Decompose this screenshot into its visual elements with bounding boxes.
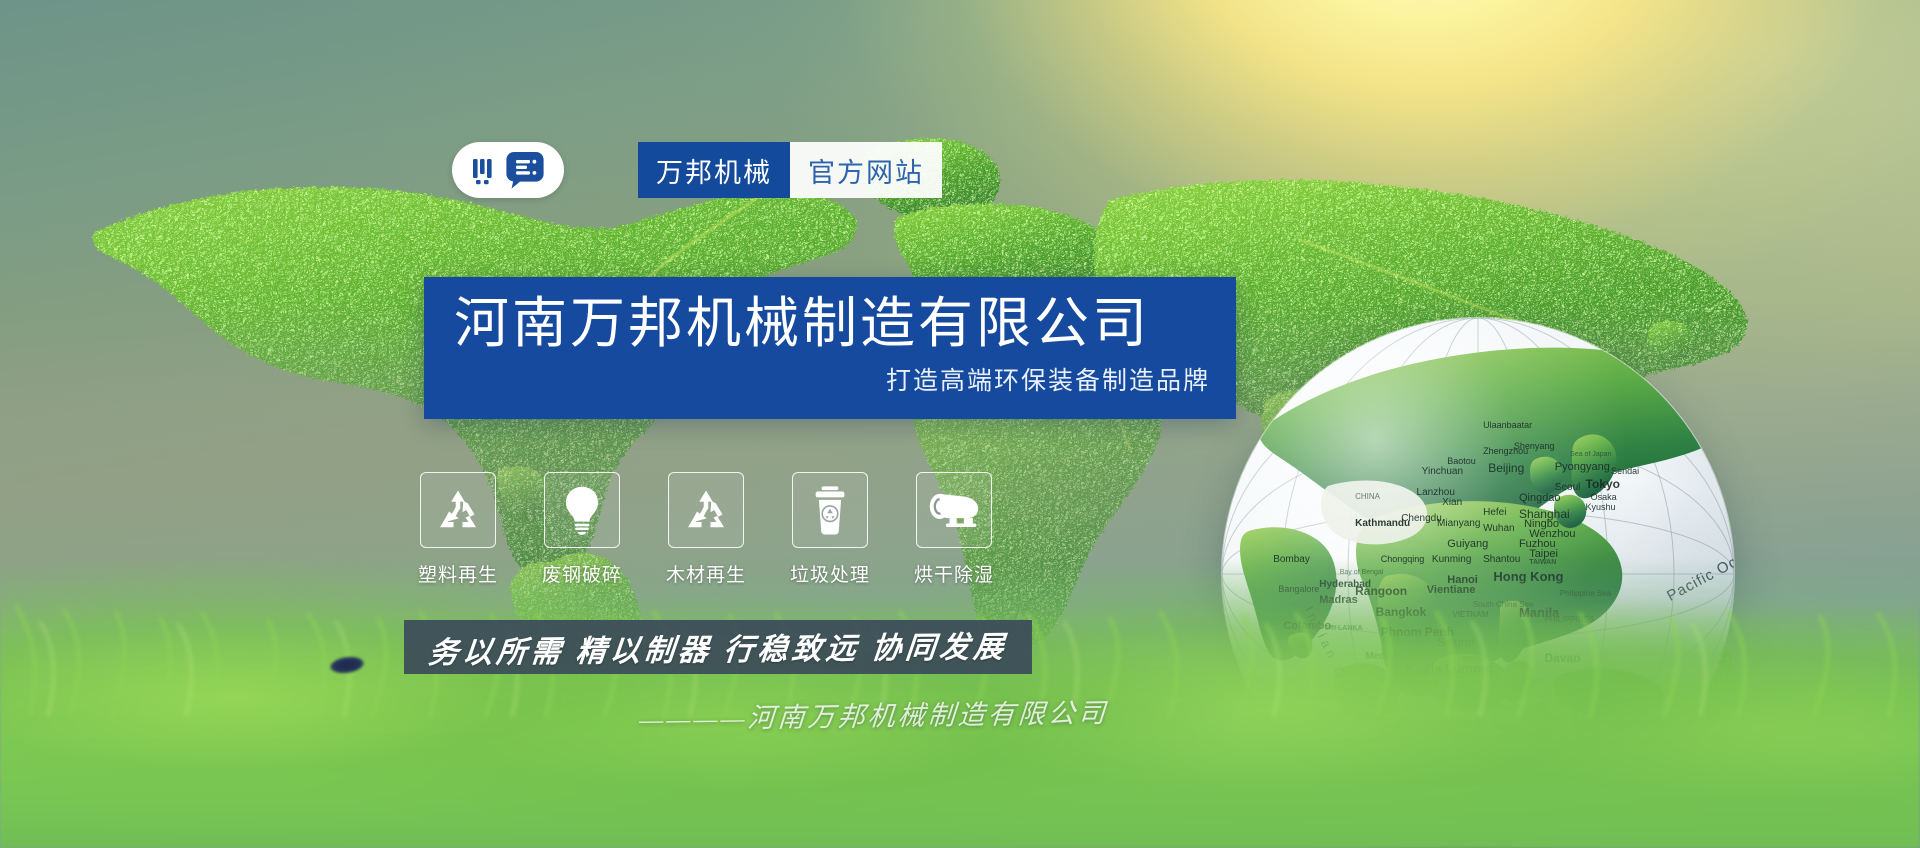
slogan-banner: 务以所需 精以制器 行稳致远 协同发展: [404, 620, 1032, 674]
company-title-card: 河南万邦机械制造有限公司 打造高端环保装备制造品牌: [424, 277, 1236, 419]
trash-bin-icon[interactable]: [792, 472, 868, 548]
recycle-icon[interactable]: [420, 472, 496, 548]
feature-label: 烘干除湿: [914, 560, 994, 587]
lightbulb-icon[interactable]: [544, 472, 620, 548]
logo-w-mark: [472, 155, 498, 185]
wanbang-logo[interactable]: [452, 142, 564, 198]
page-title: 河南万邦机械制造有限公司: [454, 295, 1210, 352]
slogan-credit: ————河南万邦机械制造有限公司: [638, 690, 1161, 736]
brand-header: 万邦机械 官方网站: [452, 142, 942, 198]
slogan-text: 务以所需 精以制器 行稳致远 协同发展: [426, 622, 1009, 672]
feature-item[interactable]: 木材再生: [668, 472, 744, 587]
feature-item[interactable]: 塑料再生: [420, 472, 496, 587]
logo-speech-bubble-mark: [505, 150, 545, 190]
recycle-icon[interactable]: [668, 472, 744, 548]
feature-item[interactable]: 废钢破碎: [544, 472, 620, 587]
dryer-blower-icon[interactable]: [916, 472, 992, 548]
site-tab-group: 万邦机械 官方网站: [638, 142, 942, 198]
company-tagline: 打造高端环保装备制造品牌: [454, 361, 1210, 397]
feature-item[interactable]: 垃圾处理: [792, 472, 868, 587]
tab-official-site[interactable]: 官方网站: [790, 142, 942, 198]
feature-label: 垃圾处理: [790, 560, 870, 587]
feature-icon-row: 塑料再生 废钢破碎 木材再生: [420, 472, 992, 587]
feature-label: 废钢破碎: [542, 560, 622, 587]
hero-banner: UlaanbaatarBeijingShenyangPyongyangSeoul…: [0, 0, 1920, 848]
feature-label: 塑料再生: [418, 560, 498, 587]
feature-label: 木材再生: [666, 560, 746, 587]
feature-item[interactable]: 烘干除湿: [916, 472, 992, 587]
tab-brand-name[interactable]: 万邦机械: [638, 142, 790, 198]
